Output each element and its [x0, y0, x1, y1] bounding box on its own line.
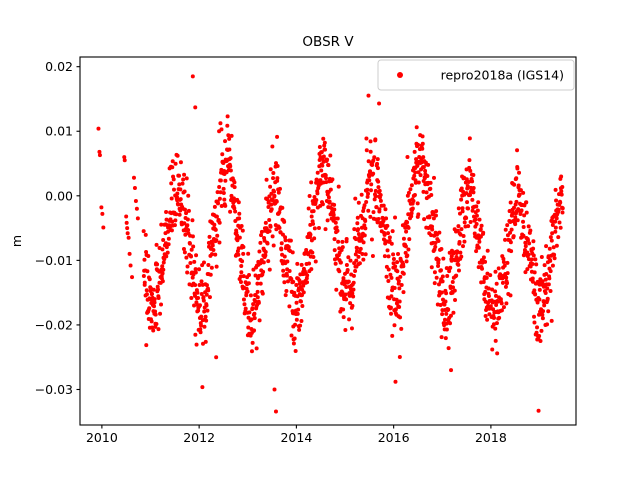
- legend-entry-label: repro2018a (IGS14): [441, 68, 564, 83]
- x-tick-label: 2014: [280, 430, 312, 445]
- y-tick-label: −0.02: [35, 317, 73, 332]
- y-tick-label: −0.01: [35, 253, 73, 268]
- axes-layer: [77, 57, 577, 429]
- data-points-layer: [96, 74, 564, 413]
- x-tick-label: 2016: [378, 430, 410, 445]
- x-tick-label: 2010: [86, 430, 118, 445]
- chart-title: OBSR V: [302, 34, 354, 50]
- legend-marker-icon: [397, 72, 403, 78]
- axis-labels-layer: 201020122014201620180.020.010.00−0.01−0.…: [35, 59, 507, 445]
- x-tick-label: 2012: [183, 430, 215, 445]
- legend[interactable]: repro2018a (IGS14): [378, 60, 574, 90]
- figure-canvas: 201020122014201620180.020.010.00−0.01−0.…: [0, 0, 640, 480]
- scatter-plot[interactable]: 201020122014201620180.020.010.00−0.01−0.…: [0, 0, 640, 480]
- y-tick-label: 0.02: [45, 59, 73, 74]
- y-tick-label: 0.00: [45, 188, 73, 203]
- y-tick-label: 0.01: [45, 124, 73, 139]
- y-axis-label: m: [9, 235, 24, 247]
- y-tick-label: −0.03: [35, 382, 73, 397]
- x-tick-label: 2018: [475, 430, 507, 445]
